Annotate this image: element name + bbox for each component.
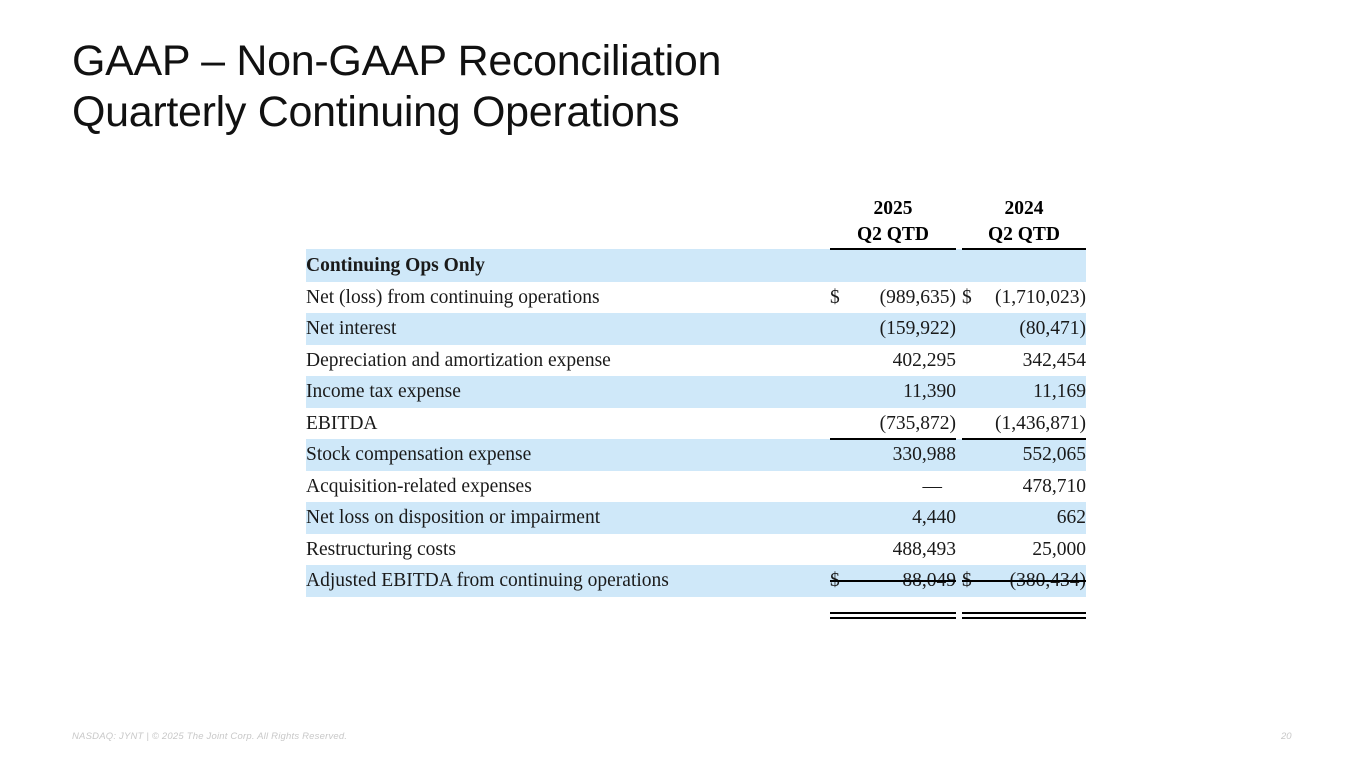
reconciliation-table-wrapper: 2025 2024 Q2 QTD Q2 QTD Continuing [306, 196, 1086, 597]
row-currency-2024: $ [962, 282, 990, 314]
row-label: EBITDA [306, 408, 830, 440]
table-row: Income tax expense11,39011,169 [306, 376, 1086, 408]
table-row: Net (loss) from continuing operations$(9… [306, 282, 1086, 314]
row-label: Restructuring costs [306, 534, 830, 566]
row-currency-2025 [830, 376, 860, 408]
row-currency-2024 [962, 439, 990, 471]
reconciliation-table: 2025 2024 Q2 QTD Q2 QTD Continuing [306, 196, 1086, 597]
table-row: EBITDA(735,872)(1,436,871) [306, 408, 1086, 440]
row-currency-2024 [962, 471, 990, 503]
row-value-2025 [860, 249, 956, 282]
table-row: Net loss on disposition or impairment4,4… [306, 502, 1086, 534]
row-label: Continuing Ops Only [306, 249, 830, 282]
row-currency-2024 [962, 313, 990, 345]
row-value-2025: — [860, 471, 956, 503]
row-value-2024: 478,710 [990, 471, 1086, 503]
row-value-2025: 330,988 [860, 439, 956, 471]
row-currency-2024 [962, 408, 990, 440]
row-currency-2024 [962, 249, 990, 282]
total-rule-top-2024 [962, 580, 1086, 582]
row-currency-2024 [962, 376, 990, 408]
row-label: Acquisition-related expenses [306, 471, 830, 503]
row-label: Net loss on disposition or impairment [306, 502, 830, 534]
footer-legal: NASDAQ: JYNT | © 2025 The Joint Corp. Al… [72, 731, 347, 742]
table-row: Stock compensation expense330,988552,065 [306, 439, 1086, 471]
header-row-year: 2025 2024 [306, 196, 1086, 222]
row-currency-2025 [830, 471, 860, 503]
row-value-2025: 4,440 [860, 502, 956, 534]
header-year-2025: 2025 [830, 196, 956, 222]
page-title: GAAP – Non-GAAP Reconciliation Quarterly… [72, 36, 1072, 138]
row-value-2025: 488,493 [860, 534, 956, 566]
row-currency-2025 [830, 313, 860, 345]
row-value-2025: 11,390 [860, 376, 956, 408]
row-value-2024 [990, 249, 1086, 282]
header-year-2024: 2024 [962, 196, 1086, 222]
row-currency-2025: $ [830, 282, 860, 314]
row-currency-2025 [830, 439, 860, 471]
row-currency-2025 [830, 534, 860, 566]
slide: GAAP – Non-GAAP Reconciliation Quarterly… [0, 0, 1365, 768]
row-value-2024: 662 [990, 502, 1086, 534]
header-spacer [306, 196, 830, 222]
table-head: 2025 2024 Q2 QTD Q2 QTD [306, 196, 1086, 249]
row-value-2024: 25,000 [990, 534, 1086, 566]
subtotal-rule-2025 [830, 438, 956, 440]
header-spacer-2 [306, 222, 830, 248]
table-row: Net interest(159,922)(80,471) [306, 313, 1086, 345]
row-value-2025: 402,295 [860, 345, 956, 377]
row-label: Net (loss) from continuing operations [306, 282, 830, 314]
row-value-2024: 342,454 [990, 345, 1086, 377]
row-currency-2025 [830, 408, 860, 440]
row-value-2024: (1,710,023) [990, 282, 1086, 314]
total-rule-bottom-b-2025 [830, 617, 956, 619]
row-currency-2025 [830, 345, 860, 377]
row-currency-2024 [962, 534, 990, 566]
total-rule-bottom-b-2024 [962, 617, 1086, 619]
row-value-2025: (989,635) [860, 282, 956, 314]
row-value-2024: (80,471) [990, 313, 1086, 345]
row-label: Income tax expense [306, 376, 830, 408]
row-label: Stock compensation expense [306, 439, 830, 471]
total-rule-bottom-a-2024 [962, 612, 1086, 614]
row-value-2024: 552,065 [990, 439, 1086, 471]
table-row: Continuing Ops Only [306, 249, 1086, 282]
table-row: Depreciation and amortization expense402… [306, 345, 1086, 377]
footer-page-number: 20 [1281, 731, 1292, 742]
row-value-2025: (159,922) [860, 313, 956, 345]
table-row: Acquisition-related expenses—478,710 [306, 471, 1086, 503]
header-period-2024: Q2 QTD [962, 222, 1086, 248]
row-value-2024: 11,169 [990, 376, 1086, 408]
total-rule-top-2025 [830, 580, 956, 582]
row-currency-2025 [830, 249, 860, 282]
row-label: Depreciation and amortization expense [306, 345, 830, 377]
page-title-line-1: GAAP – Non-GAAP Reconciliation [72, 36, 1072, 87]
row-currency-2024 [962, 345, 990, 377]
row-value-2024: (1,436,871) [990, 408, 1086, 440]
table-body: Continuing Ops OnlyNet (loss) from conti… [306, 249, 1086, 597]
total-rule-bottom-a-2025 [830, 612, 956, 614]
header-row-period: Q2 QTD Q2 QTD [306, 222, 1086, 248]
row-currency-2025 [830, 502, 860, 534]
row-value-2025: (735,872) [860, 408, 956, 440]
row-label: Net interest [306, 313, 830, 345]
row-label: Adjusted EBITDA from continuing operatio… [306, 565, 830, 597]
row-currency-2024 [962, 502, 990, 534]
table-row: Restructuring costs488,49325,000 [306, 534, 1086, 566]
page-title-line-2: Quarterly Continuing Operations [72, 87, 1072, 138]
subtotal-rule-2024 [962, 438, 1086, 440]
header-period-2025: Q2 QTD [830, 222, 956, 248]
